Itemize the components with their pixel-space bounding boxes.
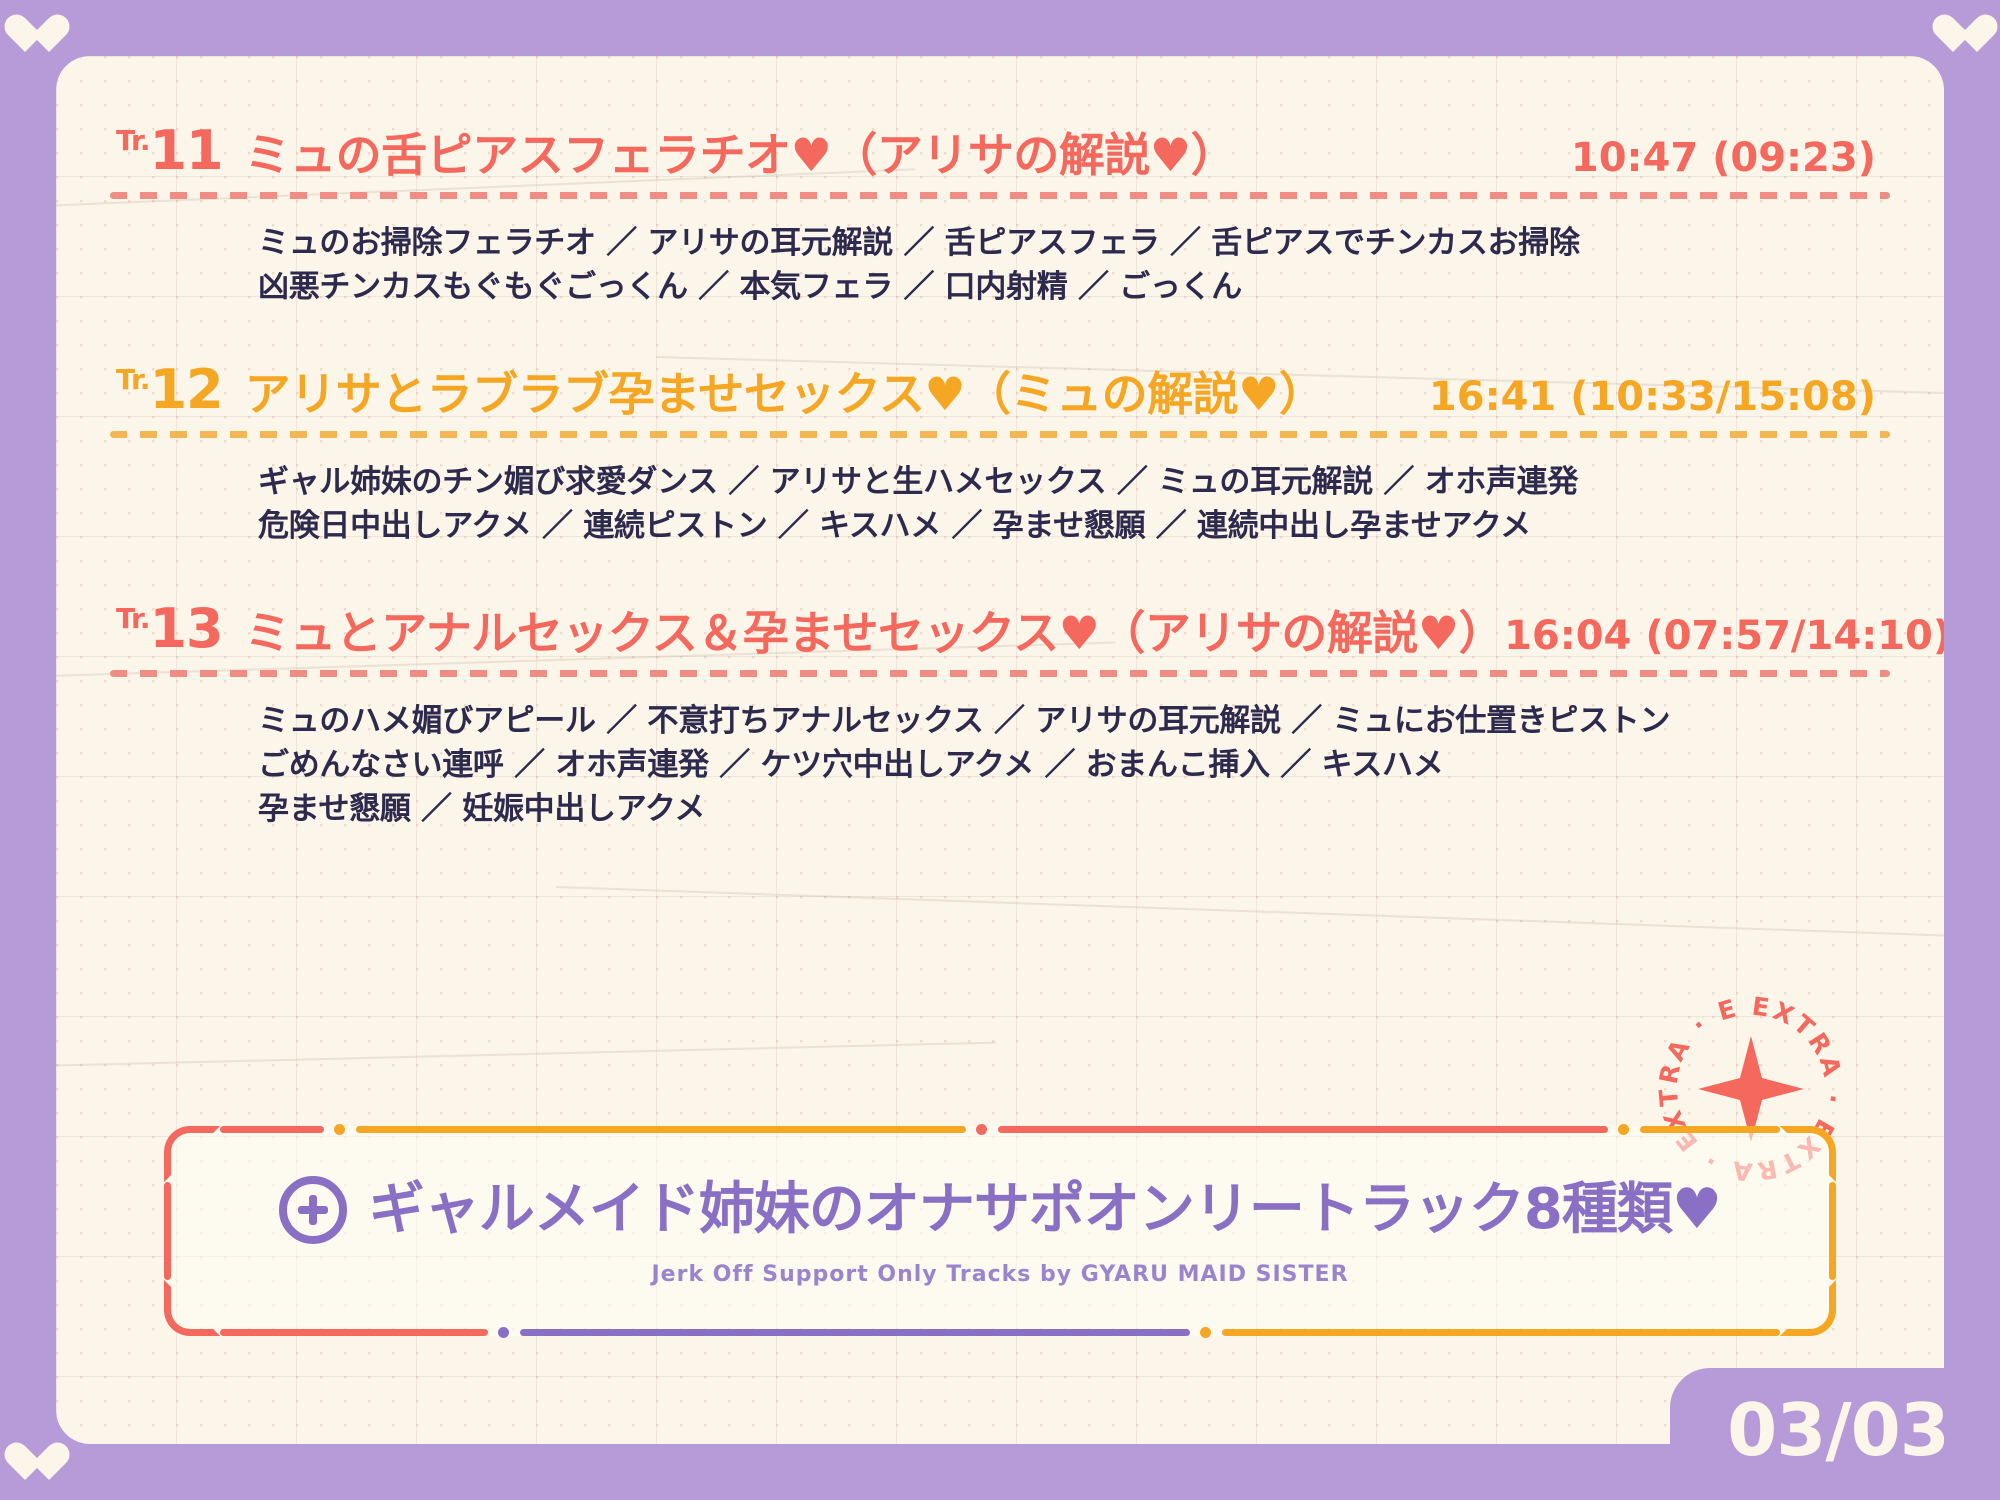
track-description-line: 孕ませ懇願 ／ 妊娠中出しアクメ (258, 787, 1890, 831)
track-divider (110, 192, 1890, 199)
track-number: Tr.13 (116, 602, 223, 656)
track-description-line: ミュのハメ媚びアピール ／ 不意打ちアナルセックス ／ アリサの耳元解説 ／ ミ… (258, 699, 1890, 743)
track-number-value: 12 (149, 358, 222, 421)
track-prefix: Tr. (116, 124, 149, 157)
track-description: ミュのハメ媚びアピール ／ 不意打ちアナルセックス ／ アリサの耳元解説 ／ ミ… (110, 699, 1890, 831)
page-root: Tr.11 ミュの舌ピアスフェラチオ♥（アリサの解説♥） 10:47 (09:2… (0, 0, 2000, 1500)
track-duration: 10:47 (09:23) (1571, 138, 1890, 178)
bonus-track-box: ギャルメイド姉妹のオナサポオンリートラック8種類♥ Jerk Off Suppo… (164, 1126, 1836, 1336)
heart-icon (1942, 16, 1986, 56)
heart-icon (14, 16, 58, 56)
track-number: Tr.12 (116, 363, 223, 417)
track-divider (110, 670, 1890, 677)
paper-sheet: Tr.11 ミュの舌ピアスフェラチオ♥（アリサの解説♥） 10:47 (09:2… (56, 56, 1944, 1444)
track-item: Tr.13 ミュとアナルセックス＆孕ませセックス♥（アリサの解説♥） 16:04… (110, 604, 1890, 831)
bonus-title: ギャルメイド姉妹のオナサポオンリートラック8種類♥ (369, 1182, 1721, 1238)
track-number: Tr.11 (116, 124, 223, 178)
track-prefix: Tr. (116, 602, 149, 635)
track-description-line: ごめんなさい連呼 ／ オホ声連発 ／ ケツ穴中出しアクメ ／ おまんこ挿入 ／ … (258, 743, 1890, 787)
track-duration: 16:41 (10:33/15:08) (1429, 377, 1890, 417)
track-title: アリサとラブラブ孕ませセックス♥（ミュの解説♥） (245, 371, 1325, 417)
track-number-value: 13 (149, 597, 222, 660)
track-duration: 16:04 (07:57/14:10) (1504, 616, 1944, 656)
track-description-line: 危険日中出しアクメ ／ 連続ピストン ／ キスハメ ／ 孕ませ懇願 ／ 連続中出… (258, 504, 1890, 548)
track-description: ミュのお掃除フェラチオ ／ アリサの耳元解説 ／ 舌ピアスフェラ ／ 舌ピアスで… (110, 221, 1890, 309)
track-item: Tr.11 ミュの舌ピアスフェラチオ♥（アリサの解説♥） 10:47 (09:2… (110, 126, 1890, 309)
heart-icon (14, 1444, 58, 1484)
page-number: 03/03 (1670, 1368, 2000, 1500)
track-description-line: 凶悪チンカスもぐもぐごっくん ／ 本気フェラ ／ 口内射精 ／ ごっくん (258, 265, 1890, 309)
plus-circle-icon (279, 1176, 347, 1244)
track-title: ミュの舌ピアスフェラチオ♥（アリサの解説♥） (245, 132, 1236, 178)
track-header: Tr.11 ミュの舌ピアスフェラチオ♥（アリサの解説♥） 10:47 (09:2… (110, 126, 1890, 180)
track-title: ミュとアナルセックス＆孕ませセックス♥（アリサの解説♥） (245, 610, 1504, 656)
track-divider (110, 431, 1890, 438)
track-description-line: ミュのお掃除フェラチオ ／ アリサの耳元解説 ／ 舌ピアスフェラ ／ 舌ピアスで… (258, 221, 1890, 265)
track-header: Tr.12 アリサとラブラブ孕ませセックス♥（ミュの解説♥） 16:41 (10… (110, 365, 1890, 419)
track-prefix: Tr. (116, 363, 149, 396)
track-header: Tr.13 ミュとアナルセックス＆孕ませセックス♥（アリサの解説♥） 16:04… (110, 604, 1890, 658)
track-number-value: 11 (149, 119, 222, 182)
track-description: ギャル姉妹のチン媚び求愛ダンス ／ アリサと生ハメセックス ／ ミュの耳元解説 … (110, 460, 1890, 548)
track-item: Tr.12 アリサとラブラブ孕ませセックス♥（ミュの解説♥） 16:41 (10… (110, 365, 1890, 548)
bonus-subtitle: Jerk Off Support Only Tracks by GYARU MA… (651, 1262, 1348, 1287)
track-description-line: ギャル姉妹のチン媚び求愛ダンス ／ アリサと生ハメセックス ／ ミュの耳元解説 … (258, 460, 1890, 504)
